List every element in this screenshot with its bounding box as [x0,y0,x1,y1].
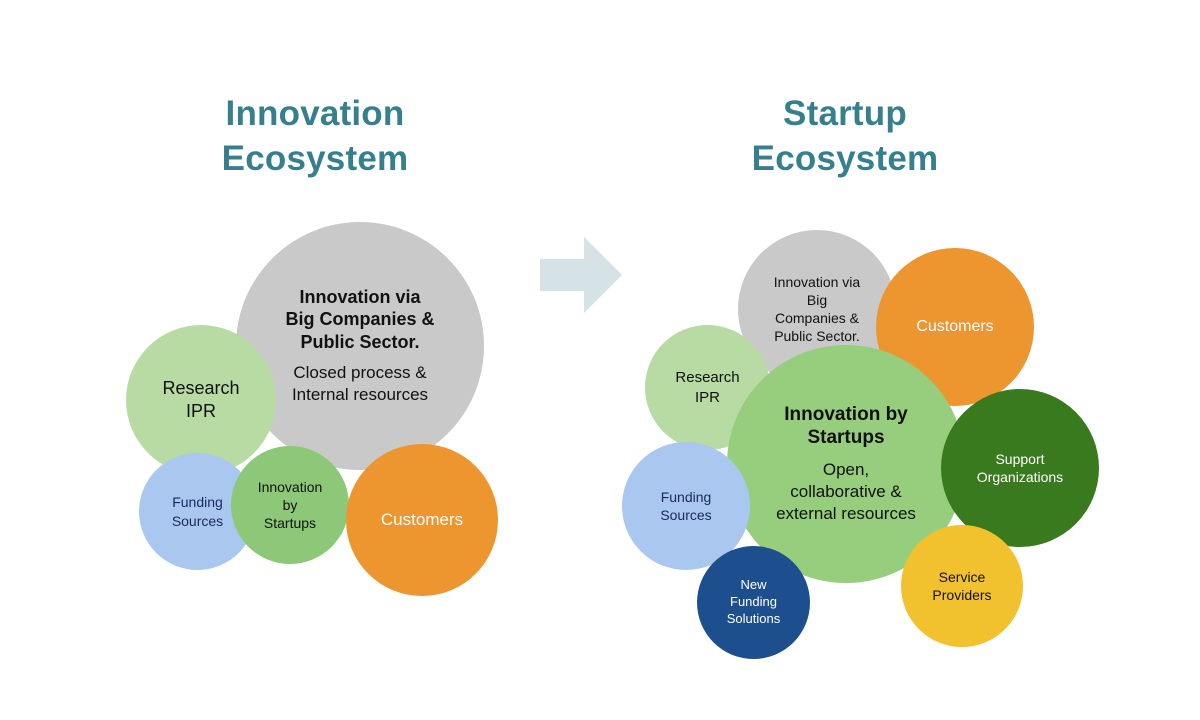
bubble-subtext: Funding Sources [626,488,746,524]
bubble-text-gap [240,353,480,362]
transition-arrow-icon [538,233,624,317]
bubble-subtext: Innovation via Big Companies & Public Se… [742,273,892,346]
bubble-label: Support Organizations [941,450,1099,486]
support-organizations-bubble[interactable]: Support Organizations [941,389,1099,547]
bubble-subtext: Support Organizations [945,450,1095,486]
new-funding-solutions-bubble[interactable]: New Funding Solutions [697,546,810,659]
bubble-label: Funding Sources [622,488,750,524]
innovation-via-big-companies-bubble[interactable]: Innovation via Big Companies & Public Se… [236,222,484,470]
innovation-by-startups-bubble[interactable]: Innovation by Startups [231,446,349,564]
bubble-heading: Innovation by Startups [731,403,961,451]
bubble-subtext: Customers [350,509,494,531]
bubble-label: Innovation via Big Companies & Public Se… [738,273,896,346]
bubble-label: Innovation by StartupsOpen, collaborativ… [727,403,965,526]
diagram-canvas: Innovation Ecosystem Startup Ecosystem I… [0,0,1200,720]
bubble-subtext: New Funding Solutions [701,577,806,628]
bubble-label: New Funding Solutions [697,577,810,628]
bubble-subtext: Service Providers [905,568,1019,604]
bubble-heading: Innovation via Big Companies & Public Se… [240,286,480,354]
bubble-label: Customers [876,317,1034,338]
bubble-subtext: Customers [880,317,1030,338]
bubble-label: Research IPR [126,377,276,424]
bubble-label: Service Providers [901,568,1023,604]
bubble-label: Innovation by Startups [231,478,349,533]
customers-bubble[interactable]: Customers [346,444,498,596]
bubble-label: Customers [346,509,498,531]
page-title-startup-ecosystem: Startup Ecosystem [680,92,1010,182]
bubble-subtext: Open, collaborative & external resources [731,459,961,525]
bubble-text-gap [731,450,961,459]
bubble-subtext: Closed process & Internal resources [240,362,480,406]
page-title-innovation-ecosystem: Innovation Ecosystem [150,92,480,182]
service-providers-bubble[interactable]: Service Providers [901,525,1023,647]
bubble-subtext: Research IPR [130,377,272,424]
bubble-subtext: Innovation by Startups [235,478,345,533]
